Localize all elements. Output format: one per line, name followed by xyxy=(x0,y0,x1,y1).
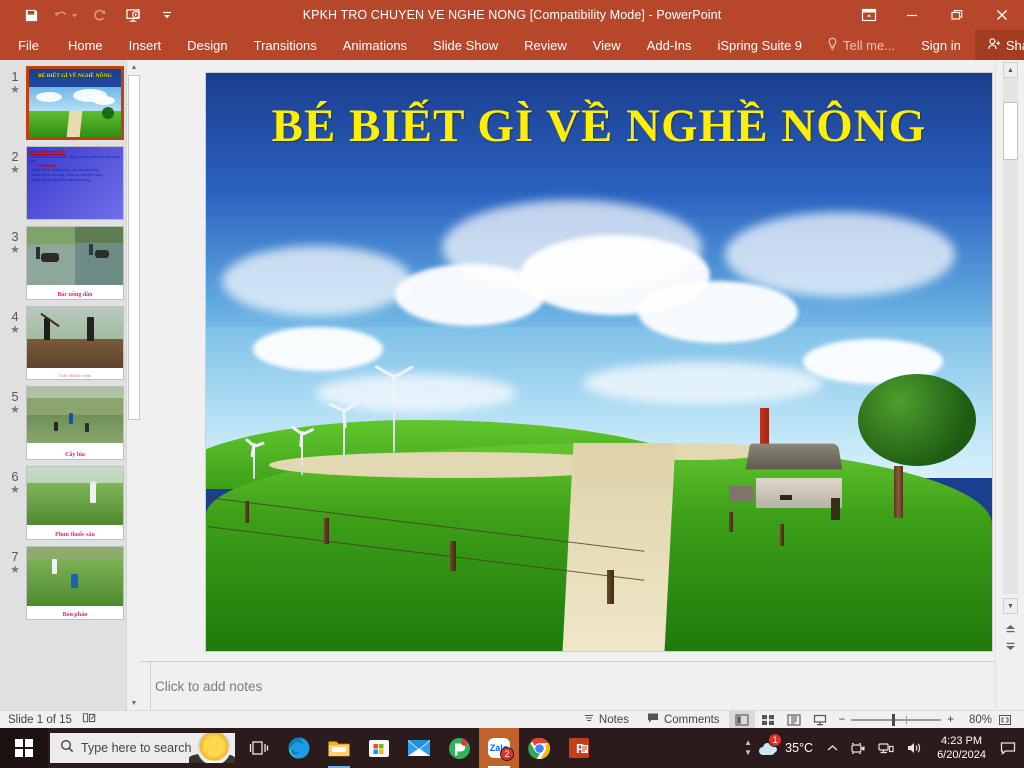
tab-ispring-suite[interactable]: iSpring Suite 9 xyxy=(704,30,815,60)
share-label: Share xyxy=(1006,38,1024,53)
scroll-up-icon[interactable]: ▲ xyxy=(1003,62,1018,78)
thumbnail-caption: Bón phân xyxy=(27,612,123,618)
lightbulb-icon xyxy=(827,37,838,54)
green-circle-icon[interactable] xyxy=(439,728,479,768)
thumbnail-preview[interactable]: BÉ BIẾT GÌ VỀ NGHỀ NÔNG xyxy=(26,66,124,140)
slideshow-view-icon[interactable] xyxy=(807,711,833,729)
thumbnail-number: 2 xyxy=(4,150,26,164)
spell-check-icon[interactable] xyxy=(82,712,97,727)
fence-post xyxy=(450,541,456,571)
workspace: 1 ★ BÉ BIẾT GÌ VỀ NGHỀ NÔNG xyxy=(0,60,1024,710)
weather-temperature: 35°C xyxy=(785,741,813,755)
windmill-icon xyxy=(292,431,312,475)
scrollbar-thumb[interactable] xyxy=(1003,102,1018,160)
cottage-shed xyxy=(729,486,753,502)
comments-button[interactable]: Comments xyxy=(638,711,729,729)
taskbar-apps: Zalo 2 P xyxy=(239,728,599,768)
thumbnail-meta: 2 ★ xyxy=(4,146,26,176)
title-bar: KPKH TRO CHUYEN VE NGHE NONG [Compatibil… xyxy=(0,0,1024,30)
zoom-level[interactable]: 80% xyxy=(960,714,992,726)
cottage-door xyxy=(831,498,840,520)
start-button[interactable] xyxy=(0,728,48,768)
thumbnail-list: 1 ★ BÉ BIẾT GÌ VỀ NGHỀ NÔNG xyxy=(0,60,140,710)
edge-icon[interactable] xyxy=(279,728,319,768)
fence-post xyxy=(245,501,249,523)
slide-indicator: Slide 1 of 15 xyxy=(8,714,72,726)
network-icon[interactable] xyxy=(872,728,900,768)
fit-slide-to-window-icon[interactable] xyxy=(992,711,1018,729)
next-slide-button[interactable] xyxy=(1003,638,1018,654)
animation-star-icon: ★ xyxy=(4,324,26,336)
cottage-body xyxy=(756,478,842,508)
notes-button[interactable]: Notes xyxy=(574,711,638,729)
save-icon[interactable] xyxy=(14,2,48,28)
mail-icon[interactable] xyxy=(399,728,439,768)
quick-access-toolbar xyxy=(0,2,184,28)
sun-icon xyxy=(197,733,231,763)
clock[interactable]: 4:23 PM 6/20/2024 xyxy=(929,734,994,762)
zalo-icon[interactable]: Zalo 2 xyxy=(479,728,519,768)
zoom-tick xyxy=(906,716,907,724)
share-button[interactable]: Share xyxy=(975,30,1024,60)
tab-add-ins[interactable]: Add-Ins xyxy=(634,30,705,60)
scroll-down-icon[interactable]: ▼ xyxy=(1003,598,1018,614)
tell-me-label: Tell me... xyxy=(843,38,895,53)
slide-sorter-icon[interactable] xyxy=(755,711,781,729)
volume-icon[interactable] xyxy=(900,728,929,768)
fence-post xyxy=(324,518,329,544)
thumbnail-number: 4 xyxy=(4,310,26,324)
thumbnail-title-text: BÉ BIẾT GÌ VỀ NGHỀ NÔNG xyxy=(29,73,121,79)
notes-pane[interactable]: Click to add notes xyxy=(150,662,995,710)
redo-icon[interactable] xyxy=(82,2,116,28)
current-slide[interactable]: BÉ BIẾT GÌ VỀ NGHỀ NÔNG xyxy=(205,72,993,652)
thumbnail-preview[interactable]: Phun thuốc sâu xyxy=(26,466,124,540)
tab-home[interactable]: Home xyxy=(55,30,116,60)
cloud-icon: 1 xyxy=(759,741,779,755)
show-hidden-icons[interactable] xyxy=(821,728,844,768)
thumbnail-number: 5 xyxy=(4,390,26,404)
thumbnail-preview[interactable]: Bác nông dân xyxy=(26,226,124,300)
fence-post xyxy=(729,512,733,532)
fence-post xyxy=(780,524,784,546)
tab-review[interactable]: Review xyxy=(511,30,580,60)
tree-trunk xyxy=(894,466,903,518)
notes-placeholder: Click to add notes xyxy=(155,679,262,694)
thumbnail-caption: Phun thuốc sâu xyxy=(27,532,123,538)
thumbnail-number: 1 xyxy=(4,70,26,84)
tell-me-box[interactable]: Tell me... xyxy=(815,30,907,60)
cottage-window xyxy=(780,495,792,500)
store-icon[interactable] xyxy=(359,728,399,768)
notes-label: Notes xyxy=(599,714,629,726)
animation-star-icon: ★ xyxy=(4,244,26,256)
thumbnail-meta: 4 ★ xyxy=(4,306,26,336)
thumbnail-number: 7 xyxy=(4,550,26,564)
thumbnail-meta: 5 ★ xyxy=(4,386,26,416)
thumbnail-caption: Cấy lúa xyxy=(27,452,123,458)
sign-in-button[interactable]: Sign in xyxy=(907,30,975,60)
thumbnail-slide-7[interactable]: 7 ★ Bón phân xyxy=(0,540,140,620)
thumbnail-scrollbar-thumb[interactable] xyxy=(128,75,140,420)
undo-icon[interactable] xyxy=(48,2,82,28)
normal-view-icon[interactable] xyxy=(729,711,755,729)
camera-icon[interactable] xyxy=(844,728,872,768)
zoom-in-button[interactable]: + xyxy=(947,714,954,726)
windmill-icon xyxy=(245,443,263,479)
clock-date: 6/20/2024 xyxy=(937,748,986,762)
ribbon-tab-bar: File Home Insert Design Transitions Anim… xyxy=(0,30,1024,60)
scroll-down-icon[interactable]: ▼ xyxy=(127,696,140,710)
reading-view-icon[interactable] xyxy=(781,711,807,729)
restore-icon[interactable] xyxy=(934,0,979,30)
tab-file[interactable]: File xyxy=(0,30,55,60)
taskbar: Type here to search Zalo 2 xyxy=(0,728,1024,768)
thumbnail-preview[interactable]: Cấy lúa xyxy=(26,386,124,460)
tree-canopy xyxy=(858,374,976,466)
search-input[interactable]: Type here to search xyxy=(50,733,235,763)
thumbnail-scrollbar[interactable]: ▲ ▼ xyxy=(126,60,140,710)
share-person-icon xyxy=(987,37,1001,54)
zoom-track[interactable] xyxy=(851,719,941,721)
search-icon xyxy=(60,739,74,758)
window-controls xyxy=(849,0,1024,30)
thumbnail-number: 3 xyxy=(4,230,26,244)
animation-star-icon: ★ xyxy=(4,164,26,176)
thumbnail-slide-1[interactable]: 1 ★ BÉ BIẾT GÌ VỀ NGHỀ NÔNG xyxy=(0,60,140,140)
tab-animations[interactable]: Animations xyxy=(330,30,420,60)
thumbnail-number: 6 xyxy=(4,470,26,484)
windmill-icon xyxy=(332,408,356,466)
mini-text-line: -Trẻ hiểu được công việc, dụng cụ, sản p… xyxy=(30,155,120,164)
notes-icon xyxy=(583,712,595,727)
slideshow-icon[interactable] xyxy=(116,2,150,28)
animation-star-icon: ★ xyxy=(4,484,26,496)
action-center-icon[interactable] xyxy=(994,728,1022,768)
thumbnail-caption: Cuốc đất làm vườn xyxy=(27,373,123,378)
thumbnail-meta: 7 ★ xyxy=(4,546,26,576)
zoom-out-button[interactable]: − xyxy=(839,714,846,726)
slide-thumbnail-pane[interactable]: 1 ★ BÉ BIẾT GÌ VỀ NGHỀ NÔNG xyxy=(0,60,140,710)
mini-text-line: -Tranh ảnh về sản phẩm của nghề nông. xyxy=(30,178,120,183)
clock-time: 4:23 PM xyxy=(937,734,986,748)
powerpoint-icon[interactable]: P xyxy=(559,728,599,768)
weather-widget[interactable]: 1 35°C xyxy=(755,741,821,755)
animation-star-icon: ★ xyxy=(4,404,26,416)
cottage-roof xyxy=(746,444,842,470)
thumbnail-meta: 1 ★ xyxy=(4,66,26,96)
thumbnail-slide-5[interactable]: 5 ★ Cấy lúa xyxy=(0,380,140,460)
close-icon[interactable] xyxy=(979,0,1024,30)
taskbar-scroll-arrows[interactable]: ▲▼ xyxy=(741,728,755,768)
folder-icon[interactable] xyxy=(319,728,359,768)
slide-scrollbar[interactable]: ▲ ▼ xyxy=(995,60,1024,710)
thumbnail-slide-6[interactable]: 6 ★ Phun thuốc sâu xyxy=(0,460,140,540)
thumbnail-slide-2[interactable]: 2 ★ I. MỤC ĐÍCH YÊU CẦU -Trẻ hiểu được c… xyxy=(0,140,140,220)
zoom-knob[interactable] xyxy=(892,714,895,726)
windmill-icon xyxy=(379,374,409,452)
tab-insert[interactable]: Insert xyxy=(116,30,175,60)
scroll-up-icon[interactable]: ▲ xyxy=(127,60,140,74)
animation-star-icon: ★ xyxy=(4,84,26,96)
slide-title[interactable]: BÉ BIẾT GÌ VỀ NGHỀ NÔNG xyxy=(206,99,992,153)
system-tray: ▲▼ 1 35°C 4:23 PM 6/20/2024 xyxy=(741,728,1024,768)
thumbnail-slide-4[interactable]: 4 ★ Cuốc đất làm vườn xyxy=(0,300,140,380)
zoom-slider[interactable]: − + xyxy=(833,714,960,726)
thumbnail-preview[interactable]: I. MỤC ĐÍCH YÊU CẦU -Trẻ hiểu được công … xyxy=(26,146,124,220)
chrome-icon[interactable] xyxy=(519,728,559,768)
tab-view[interactable]: View xyxy=(580,30,634,60)
thumbnail-meta: 6 ★ xyxy=(4,466,26,496)
ribbon-display-options-icon[interactable] xyxy=(849,0,889,30)
previous-slide-button[interactable] xyxy=(1003,620,1018,636)
zalo-badge: 2 xyxy=(500,747,514,761)
tab-slide-show[interactable]: Slide Show xyxy=(420,30,511,60)
status-bar: Slide 1 of 15 Notes Comments xyxy=(0,710,1024,728)
thumbnail-preview[interactable]: Cuốc đất làm vườn xyxy=(26,306,124,380)
animation-star-icon: ★ xyxy=(4,564,26,576)
weather-badge: 1 xyxy=(768,733,782,747)
chevron-down-icon[interactable] xyxy=(150,2,184,28)
tab-design[interactable]: Design xyxy=(174,30,240,60)
minimize-icon[interactable] xyxy=(889,0,934,30)
thumbnail-preview[interactable]: Bón phân xyxy=(26,546,124,620)
comment-icon xyxy=(647,712,660,727)
comments-label: Comments xyxy=(664,714,720,726)
thumbnail-meta: 3 ★ xyxy=(4,226,26,256)
slide-editing-area: BÉ BIẾT GÌ VỀ NGHỀ NÔNG Click to add not… xyxy=(140,60,995,710)
thumbnail-slide-3[interactable]: 3 ★ Bác nông dân xyxy=(0,220,140,300)
fence-post xyxy=(607,570,614,604)
tab-transitions[interactable]: Transitions xyxy=(241,30,330,60)
thumbnail-caption: Bác nông dân xyxy=(27,292,123,298)
task-view-icon[interactable] xyxy=(239,728,279,768)
search-placeholder: Type here to search xyxy=(81,741,191,755)
